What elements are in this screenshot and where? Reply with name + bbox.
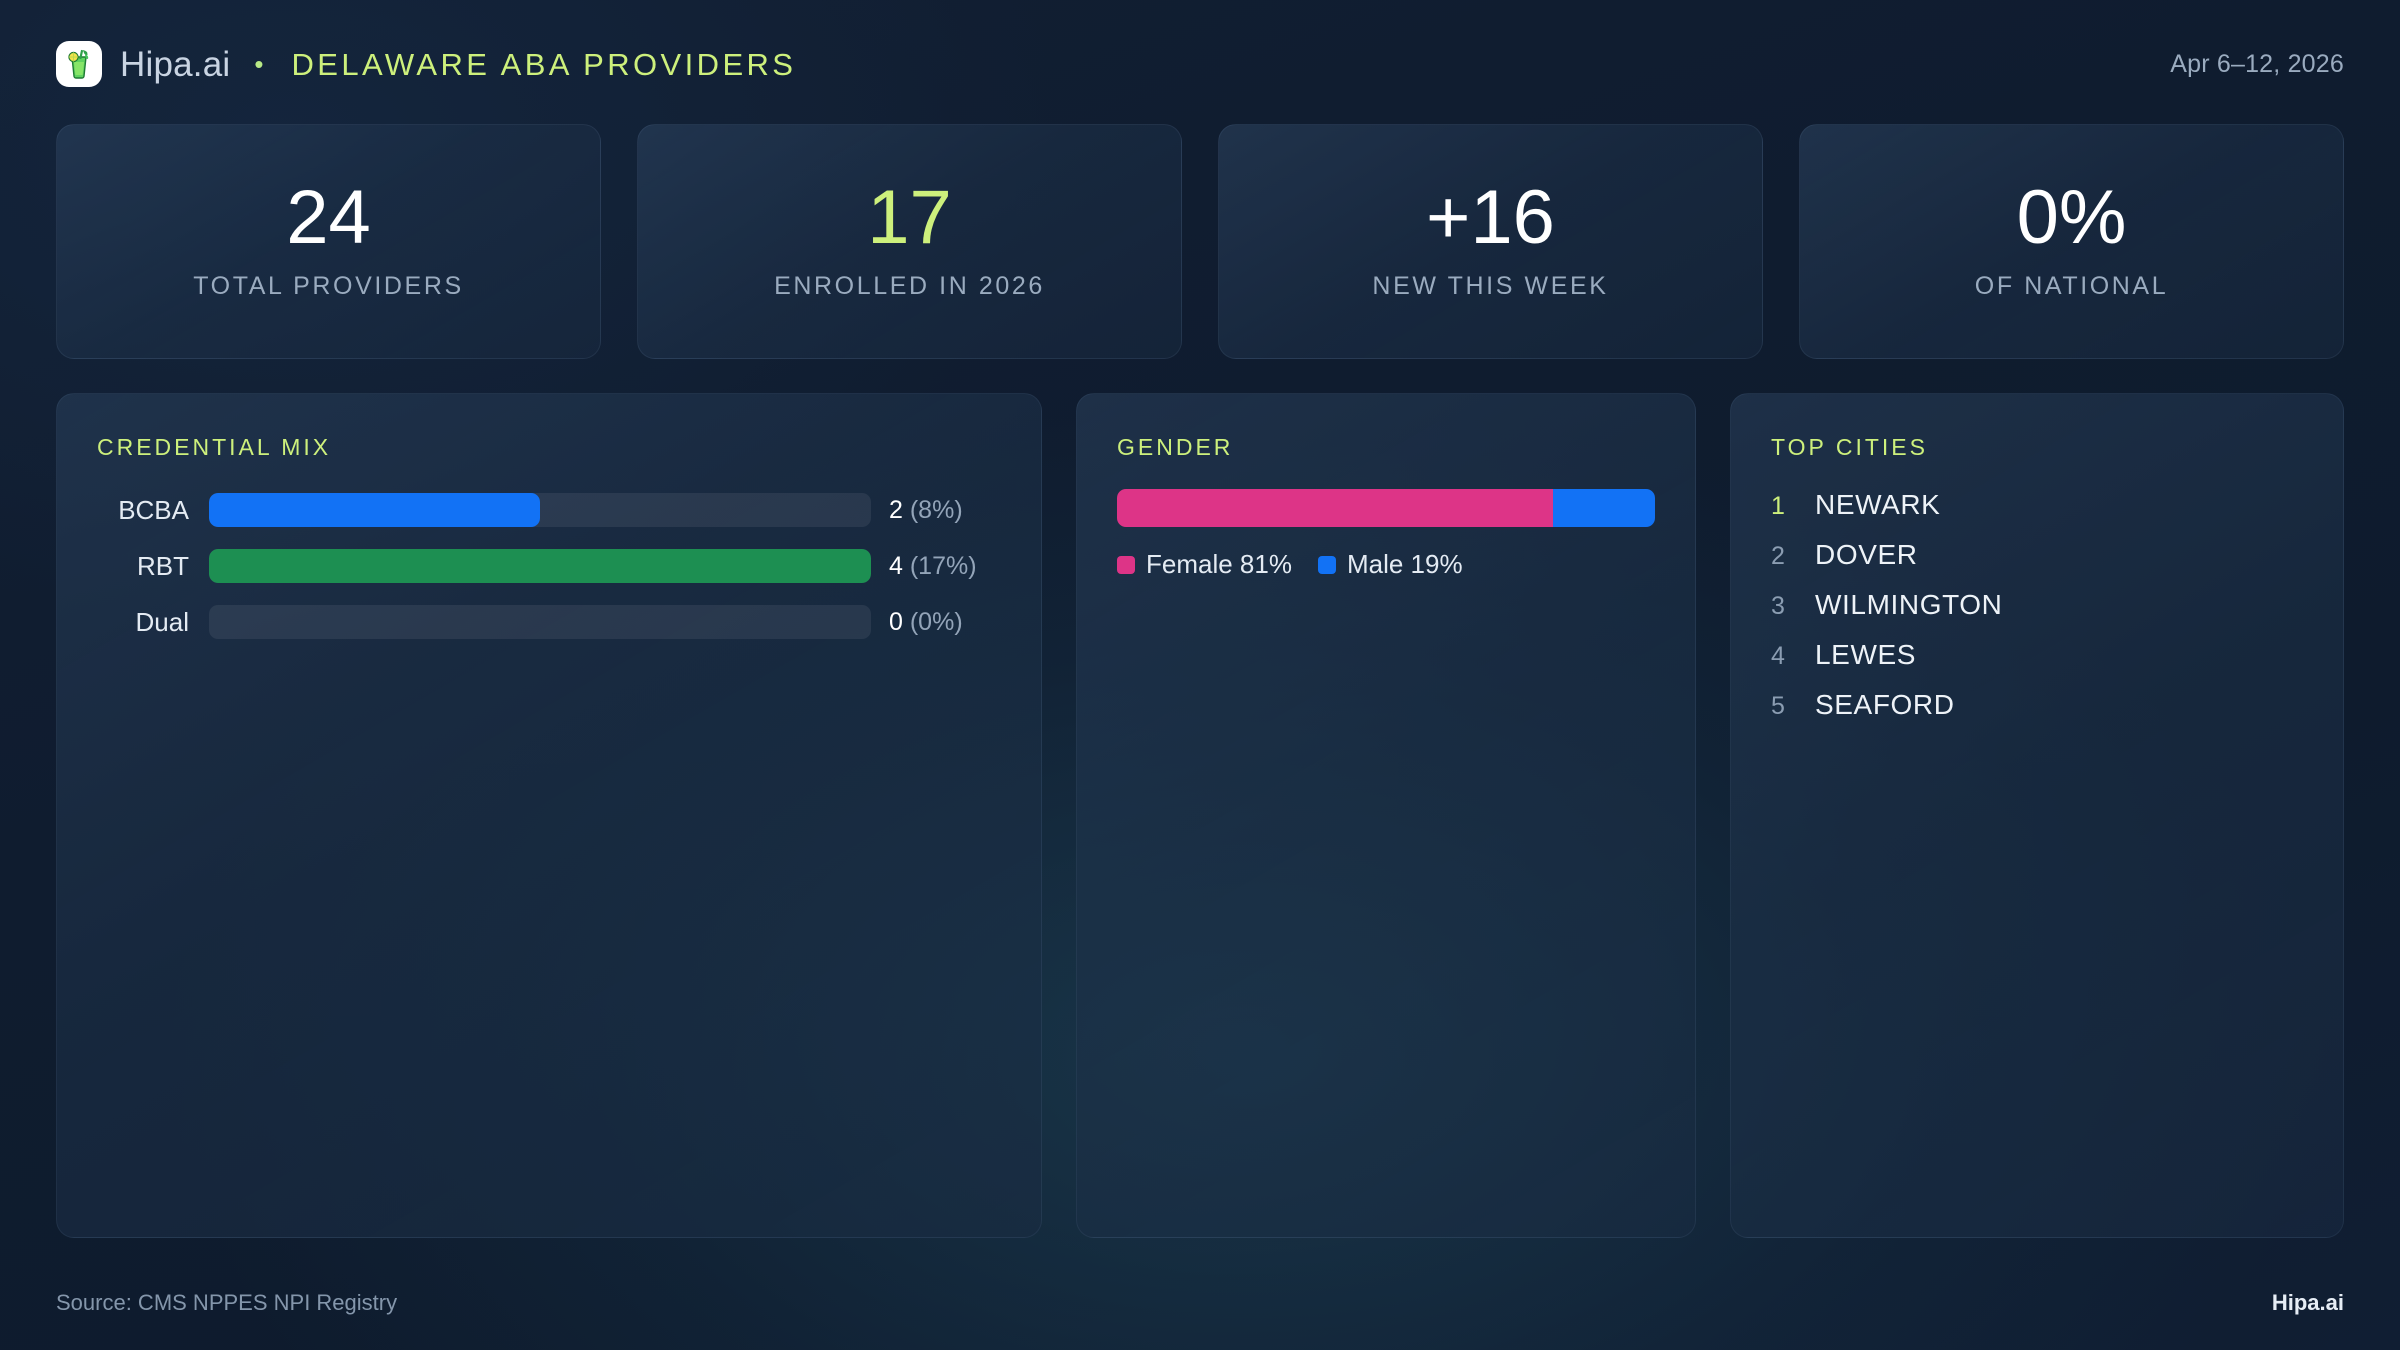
kpi-label: ENROLLED IN 2026 (774, 272, 1045, 301)
panel-gender: GENDER Female 81% Male 19% (1076, 393, 1696, 1238)
kpi-value: 0% (2017, 182, 2127, 254)
city-rank: 3 (1771, 592, 1793, 621)
credential-bar-row: RBT 4 (17%) (97, 545, 1001, 587)
kpi-row: 24 TOTAL PROVIDERS 17 ENROLLED IN 2026 +… (56, 124, 2344, 359)
city-name: WILMINGTON (1815, 589, 2002, 621)
kpi-label: OF NATIONAL (1975, 272, 2168, 301)
footer-bar: Source: CMS NPPES NPI Registry Hipa.ai (56, 1286, 2344, 1320)
credential-bar-track (209, 605, 871, 639)
panel-row: CREDENTIAL MIX BCBA 2 (8%) RBT 4 (17%) (56, 393, 2344, 1238)
credential-bar-fill (209, 549, 871, 583)
panel-top-cities: TOP CITIES 1 NEWARK 2 DOVER 3 WILMINGTON… (1730, 393, 2344, 1238)
kpi-card-total-providers: 24 TOTAL PROVIDERS (56, 124, 601, 359)
credential-bar-track (209, 549, 871, 583)
tropical-drink-icon (56, 41, 102, 87)
list-item: 1 NEWARK (1771, 489, 2303, 521)
city-rank: 2 (1771, 542, 1793, 571)
brand-separator-dot: • (254, 51, 263, 77)
credential-bar-value: 2 (8%) (871, 496, 1001, 525)
kpi-value: +16 (1426, 182, 1555, 254)
legend-swatch-female-icon (1117, 556, 1135, 574)
credential-bar-count: 2 (889, 496, 903, 524)
credential-bar-label: RBT (97, 551, 209, 582)
city-name: DOVER (1815, 539, 1918, 571)
kpi-card-of-national: 0% OF NATIONAL (1799, 124, 2344, 359)
credential-bar-label: Dual (97, 607, 209, 638)
credential-bar-fill (209, 493, 540, 527)
credential-bar-row: BCBA 2 (8%) (97, 489, 1001, 531)
credential-bar-label: BCBA (97, 495, 209, 526)
panel-title-gender: GENDER (1117, 434, 1655, 461)
gender-segment-female (1117, 489, 1553, 527)
credential-bar-list: BCBA 2 (8%) RBT 4 (17%) Dual (97, 489, 1001, 643)
city-rank: 5 (1771, 692, 1793, 721)
brand-group: Hipa.ai • DELAWARE ABA PROVIDERS (56, 41, 796, 87)
list-item: 5 SEAFORD (1771, 689, 2303, 721)
list-item: 4 LEWES (1771, 639, 2303, 671)
credential-bar-count: 4 (889, 552, 903, 580)
city-name: LEWES (1815, 639, 1916, 671)
gender-segment-male (1553, 489, 1655, 527)
credential-bar-percent: (17%) (910, 552, 977, 580)
city-list: 1 NEWARK 2 DOVER 3 WILMINGTON 4 LEWES 5 (1771, 489, 2303, 721)
credential-bar-percent: (8%) (910, 496, 963, 524)
credential-bar-track (209, 493, 871, 527)
credential-bar-value: 0 (0%) (871, 608, 1001, 637)
kpi-value: 24 (286, 182, 371, 254)
panel-title-top-cities: TOP CITIES (1771, 434, 2303, 461)
legend-item-female: Female 81% (1117, 549, 1292, 580)
date-range: Apr 6–12, 2026 (2170, 50, 2344, 79)
panel-credential-mix: CREDENTIAL MIX BCBA 2 (8%) RBT 4 (17%) (56, 393, 1042, 1238)
list-item: 3 WILMINGTON (1771, 589, 2303, 621)
credential-bar-percent: (0%) (910, 608, 963, 636)
brand-name: Hipa.ai (120, 47, 230, 82)
kpi-label: TOTAL PROVIDERS (193, 272, 464, 301)
kpi-card-enrolled: 17 ENROLLED IN 2026 (637, 124, 1182, 359)
legend-item-male: Male 19% (1318, 549, 1463, 580)
list-item: 2 DOVER (1771, 539, 2303, 571)
credential-bar-row: Dual 0 (0%) (97, 601, 1001, 643)
legend-label-male: Male 19% (1347, 549, 1463, 580)
panel-title-credential-mix: CREDENTIAL MIX (97, 434, 1001, 461)
city-rank: 4 (1771, 642, 1793, 671)
dashboard-page: Hipa.ai • DELAWARE ABA PROVIDERS Apr 6–1… (0, 0, 2400, 1350)
footer-brand: Hipa.ai (2272, 1290, 2344, 1316)
kpi-label: NEW THIS WEEK (1372, 272, 1608, 301)
city-rank: 1 (1771, 492, 1793, 521)
footer-source-text: Source: CMS NPPES NPI Registry (56, 1290, 397, 1316)
page-title: DELAWARE ABA PROVIDERS (291, 49, 796, 80)
kpi-value: 17 (867, 182, 952, 254)
legend-swatch-male-icon (1318, 556, 1336, 574)
city-name: NEWARK (1815, 489, 1940, 521)
legend-label-female: Female 81% (1146, 549, 1292, 580)
credential-bar-count: 0 (889, 608, 903, 636)
gender-stacked-bar (1117, 489, 1655, 527)
city-name: SEAFORD (1815, 689, 1955, 721)
credential-bar-value: 4 (17%) (871, 552, 1001, 581)
header-bar: Hipa.ai • DELAWARE ABA PROVIDERS Apr 6–1… (56, 36, 2344, 92)
kpi-card-new-this-week: +16 NEW THIS WEEK (1218, 124, 1763, 359)
gender-legend: Female 81% Male 19% (1117, 549, 1655, 580)
